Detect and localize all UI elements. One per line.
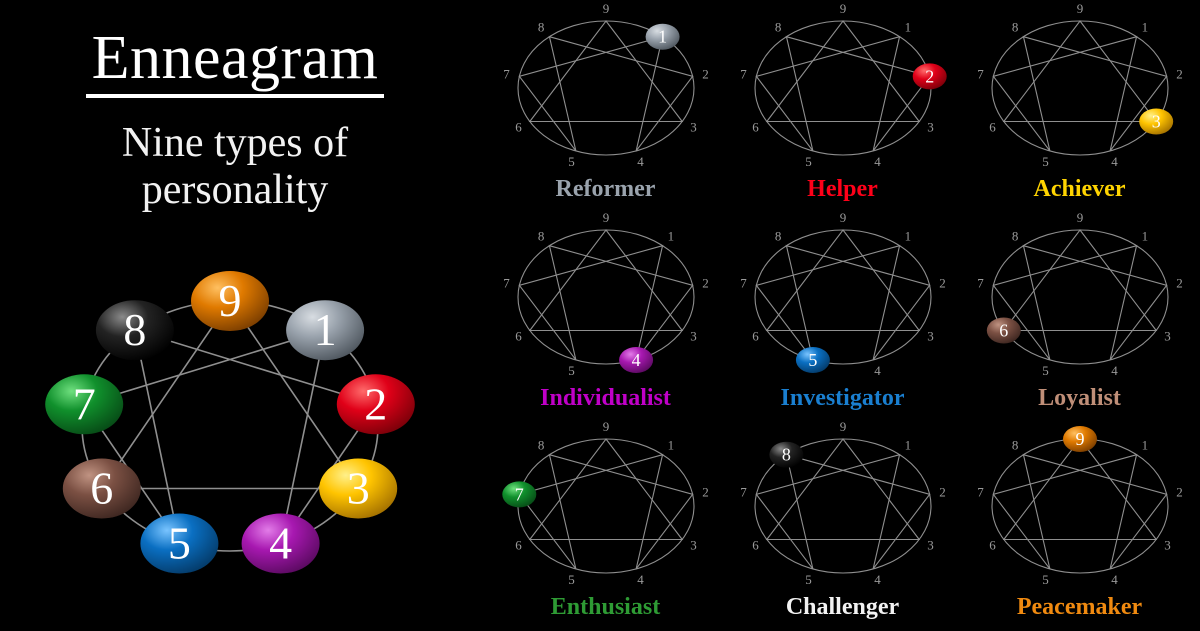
- mini-enneagram-svg: 123456897: [501, 424, 711, 594]
- enneagram-point-label-7: 7: [740, 275, 747, 290]
- mini-enneagram-svg: 123456798: [738, 424, 948, 594]
- main-type-node-7[interactable]: 7: [45, 374, 123, 434]
- main-type-node-4[interactable]: 4: [242, 514, 320, 574]
- main-enneagram-diagram: 912345678: [18, 258, 458, 608]
- enneagram-point-label-5: 5: [1042, 363, 1049, 378]
- enneagram-triangle: [529, 439, 681, 540]
- type-node-number: 8: [781, 445, 790, 465]
- enneagram-point-label-1: 1: [904, 438, 911, 453]
- type-node-3[interactable]: 3: [1139, 109, 1173, 135]
- enneagram-point-label-9: 9: [602, 210, 609, 225]
- enneagram-hexad: [84, 330, 376, 543]
- enneagram-point-label-1: 1: [1141, 229, 1148, 244]
- type-card-label: Reformer: [484, 176, 727, 203]
- enneagram-point-label-3: 3: [690, 329, 697, 344]
- type-card-label: Peacemaker: [958, 594, 1200, 621]
- enneagram-point-label-4: 4: [1111, 572, 1118, 587]
- main-type-node-number: 5: [168, 518, 191, 569]
- type-node-8[interactable]: 8: [769, 442, 803, 468]
- main-type-node-number: 9: [219, 275, 242, 326]
- enneagram-circle: [992, 439, 1168, 573]
- enneagram-point-label-8: 8: [1011, 438, 1018, 453]
- subtitle-line-1: Nine types of: [0, 120, 470, 167]
- type-card-peacemaker[interactable]: 123456789Peacemaker: [958, 422, 1200, 631]
- subtitle-line-2: personality: [0, 167, 470, 214]
- enneagram-point-label-8: 8: [537, 20, 544, 35]
- enneagram-point-label-3: 3: [927, 329, 934, 344]
- enneagram-point-label-6: 6: [989, 120, 996, 135]
- enneagram-point-label-2: 2: [939, 275, 946, 290]
- type-node-number: 9: [1075, 429, 1084, 449]
- type-card-enthusiast[interactable]: 123456897Enthusiast: [484, 422, 727, 631]
- type-node-number: 7: [514, 484, 523, 504]
- type-node-5[interactable]: 5: [795, 347, 829, 373]
- enneagram-point-label-5: 5: [805, 154, 812, 169]
- enneagram-point-label-9: 9: [1076, 210, 1083, 225]
- enneagram-triangle: [1003, 439, 1155, 540]
- type-card-label: Challenger: [721, 594, 964, 621]
- enneagram-point-label-3: 3: [927, 538, 934, 553]
- type-node-number: 4: [631, 350, 640, 370]
- main-type-node-3[interactable]: 3: [319, 459, 397, 519]
- enneagram-hexad: [519, 246, 692, 360]
- enneagram-point-label-5: 5: [1042, 154, 1049, 169]
- main-type-node-9[interactable]: 9: [191, 271, 269, 331]
- main-type-node-number: 6: [90, 463, 113, 514]
- enneagram-point-label-8: 8: [537, 438, 544, 453]
- type-card-helper[interactable]: 134567892Helper: [721, 4, 964, 213]
- enneagram-circle: [992, 230, 1168, 364]
- enneagram-point-label-5: 5: [1042, 572, 1049, 587]
- type-node-7[interactable]: 7: [502, 481, 536, 507]
- mini-enneagram-svg: 123567894: [501, 215, 711, 385]
- enneagram-point-label-1: 1: [667, 229, 674, 244]
- enneagram-point-label-3: 3: [1164, 329, 1171, 344]
- enneagram-point-label-8: 8: [774, 20, 781, 35]
- type-card-loyalist[interactable]: 123457896Loyalist: [958, 213, 1200, 422]
- enneagram-triangle: [529, 230, 681, 331]
- enneagram-point-label-8: 8: [1011, 229, 1018, 244]
- enneagram-point-label-2: 2: [702, 484, 709, 499]
- enneagram-point-label-7: 7: [977, 66, 984, 81]
- enneagram-point-label-9: 9: [602, 1, 609, 16]
- enneagram-hexad: [993, 37, 1166, 151]
- enneagram-point-label-4: 4: [637, 572, 644, 587]
- enneagram-point-label-9: 9: [839, 419, 846, 434]
- enneagram-circle: [992, 21, 1168, 155]
- type-card-label: Helper: [721, 176, 964, 203]
- enneagram-point-label-7: 7: [740, 66, 747, 81]
- enneagram-circle: [755, 230, 931, 364]
- enneagram-point-label-8: 8: [774, 229, 781, 244]
- main-type-node-number: 7: [73, 378, 96, 429]
- type-node-number: 2: [925, 66, 934, 86]
- enneagram-point-label-6: 6: [989, 538, 996, 553]
- enneagram-point-label-6: 6: [515, 329, 522, 344]
- page-title: Enneagram: [86, 26, 385, 98]
- enneagram-triangle: [766, 21, 918, 122]
- mini-enneagram-svg: 123457896: [975, 215, 1185, 385]
- main-type-node-number: 3: [347, 463, 370, 514]
- type-card-reformer[interactable]: 234567891Reformer: [484, 4, 727, 213]
- enneagram-point-label-1: 1: [1141, 20, 1148, 35]
- type-card-label: Enthusiast: [484, 594, 727, 621]
- mini-enneagram-svg: 134567892: [738, 6, 948, 176]
- enneagram-point-label-2: 2: [1176, 275, 1183, 290]
- enneagram-point-label-2: 2: [702, 275, 709, 290]
- enneagram-point-label-1: 1: [1141, 438, 1148, 453]
- type-card-label: Investigator: [721, 385, 964, 412]
- enneagram-point-label-4: 4: [874, 572, 881, 587]
- enneagram-point-label-7: 7: [977, 275, 984, 290]
- main-type-node-number: 1: [314, 304, 337, 355]
- enneagram-hexad: [756, 455, 929, 569]
- type-node-number: 5: [808, 350, 817, 370]
- type-node-1[interactable]: 1: [645, 24, 679, 50]
- main-type-node-number: 2: [364, 378, 387, 429]
- type-node-number: 6: [999, 321, 1008, 341]
- main-type-node-number: 8: [123, 304, 146, 355]
- main-type-node-2[interactable]: 2: [337, 374, 415, 434]
- enneagram-point-label-9: 9: [839, 1, 846, 16]
- enneagram-circle: [518, 439, 694, 573]
- enneagram-point-label-5: 5: [805, 572, 812, 587]
- main-type-node-number: 4: [269, 518, 292, 569]
- type-node-6[interactable]: 6: [986, 318, 1020, 344]
- mini-enneagram-svg: 123456789: [975, 424, 1185, 594]
- enneagram-circle: [518, 230, 694, 364]
- type-card-individualist[interactable]: 123567894Individualist: [484, 213, 727, 422]
- enneagram-point-label-1: 1: [904, 229, 911, 244]
- enneagram-hexad: [519, 37, 692, 151]
- enneagram-hexad: [756, 246, 929, 360]
- enneagram-circle: [755, 21, 931, 155]
- type-node-4[interactable]: 4: [619, 347, 653, 373]
- enneagram-point-label-2: 2: [1176, 484, 1183, 499]
- enneagram-point-label-3: 3: [690, 538, 697, 553]
- enneagram-point-label-7: 7: [503, 66, 510, 81]
- enneagram-point-label-8: 8: [1011, 20, 1018, 35]
- enneagram-point-label-2: 2: [939, 484, 946, 499]
- enneagram-triangle: [766, 230, 918, 331]
- main-type-node-6[interactable]: 6: [63, 459, 141, 519]
- enneagram-point-label-3: 3: [927, 120, 934, 135]
- enneagram-point-label-8: 8: [537, 229, 544, 244]
- enneagram-point-label-6: 6: [752, 538, 759, 553]
- enneagram-point-label-1: 1: [904, 20, 911, 35]
- main-type-node-1[interactable]: 1: [286, 300, 364, 360]
- enneagram-hexad: [519, 455, 692, 569]
- type-node-2[interactable]: 2: [912, 63, 946, 89]
- type-card-label: Individualist: [484, 385, 727, 412]
- type-card-grid: 234567891Reformer134567892Helper12456789…: [470, 0, 1200, 627]
- type-node-number: 3: [1151, 112, 1160, 132]
- mini-enneagram-svg: 234567891: [501, 6, 711, 176]
- page-subtitle: Nine types of personality: [0, 120, 470, 214]
- enneagram-point-label-9: 9: [839, 210, 846, 225]
- enneagram-infographic: Enneagram Nine types of personality 9123…: [0, 0, 1200, 627]
- enneagram-point-label-2: 2: [702, 66, 709, 81]
- enneagram-point-label-5: 5: [568, 363, 575, 378]
- enneagram-point-label-1: 1: [667, 438, 674, 453]
- mini-enneagram-svg: 123467895: [738, 215, 948, 385]
- mini-enneagram-svg: 124567893: [975, 6, 1185, 176]
- enneagram-point-label-9: 9: [602, 419, 609, 434]
- enneagram-point-label-4: 4: [1111, 154, 1118, 169]
- enneagram-point-label-7: 7: [503, 275, 510, 290]
- type-card-achiever[interactable]: 124567893Achiever: [958, 4, 1200, 213]
- enneagram-point-label-6: 6: [752, 120, 759, 135]
- enneagram-point-label-3: 3: [690, 120, 697, 135]
- enneagram-point-label-5: 5: [568, 572, 575, 587]
- type-card-investigator[interactable]: 123467895Investigator: [721, 213, 964, 422]
- enneagram-point-label-6: 6: [515, 538, 522, 553]
- enneagram-point-label-4: 4: [637, 154, 644, 169]
- enneagram-hexad: [993, 455, 1166, 569]
- enneagram-point-label-7: 7: [977, 484, 984, 499]
- enneagram-hexad: [756, 37, 929, 151]
- enneagram-point-label-9: 9: [1076, 1, 1083, 16]
- enneagram-point-label-6: 6: [752, 329, 759, 344]
- type-node-number: 1: [658, 27, 667, 47]
- type-card-challenger[interactable]: 123456798Challenger: [721, 422, 964, 631]
- enneagram-hexad: [993, 246, 1166, 360]
- enneagram-point-label-7: 7: [740, 484, 747, 499]
- enneagram-triangle: [1003, 230, 1155, 331]
- enneagram-point-label-6: 6: [515, 120, 522, 135]
- page-title-wrap: Enneagram: [0, 26, 470, 98]
- enneagram-point-label-3: 3: [1164, 538, 1171, 553]
- enneagram-triangle: [1003, 21, 1155, 122]
- main-type-node-5[interactable]: 5: [140, 514, 218, 574]
- enneagram-point-label-4: 4: [874, 154, 881, 169]
- enneagram-point-label-5: 5: [568, 154, 575, 169]
- main-type-node-8[interactable]: 8: [96, 300, 174, 360]
- type-node-9[interactable]: 9: [1063, 426, 1097, 452]
- type-card-label: Achiever: [958, 176, 1200, 203]
- left-panel: Enneagram Nine types of personality 9123…: [0, 0, 470, 627]
- type-card-label: Loyalist: [958, 385, 1200, 412]
- enneagram-point-label-2: 2: [1176, 66, 1183, 81]
- enneagram-point-label-4: 4: [874, 363, 881, 378]
- enneagram-point-label-4: 4: [1111, 363, 1118, 378]
- main-enneagram-svg: 912345678: [18, 258, 458, 608]
